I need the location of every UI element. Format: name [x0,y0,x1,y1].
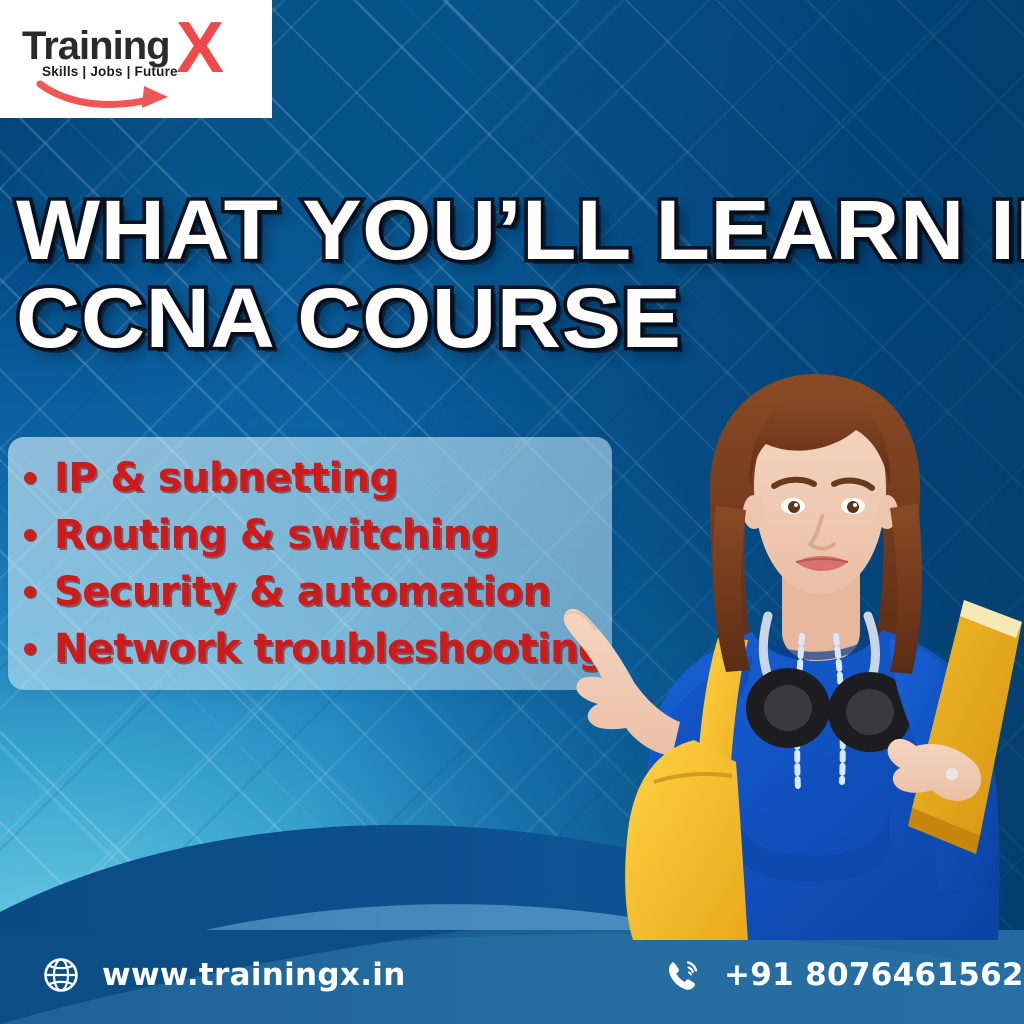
footer-phone[interactable]: +91 8076461562 [664,956,1024,994]
globe-icon [42,956,80,994]
poster-canvas: Training X Skills | Jobs | Future WHAT Y… [0,0,1024,1024]
phone-ring-icon [664,956,702,994]
student-photo [560,370,1024,950]
bullet-label: IP & subnetting [54,456,398,500]
bullet-dot-icon [24,586,36,598]
list-item: Network troubleshooting [8,620,612,677]
bullet-dot-icon [24,529,36,541]
footer-website[interactable]: www.trainingx.in [42,956,406,994]
headline-block: WHAT YOU’LL LEARN IN THE CCNA COURSE [16,186,1006,362]
logo-arrow-icon [36,78,176,112]
headline-line-1: WHAT YOU’LL LEARN IN THE [16,186,1024,274]
logo-wordmark: Training [22,26,170,66]
bullet-dot-icon [24,472,36,484]
brand-logo[interactable]: Training X Skills | Jobs | Future [0,0,272,118]
bullet-dot-icon [24,643,36,655]
list-item: Security & automation [8,563,612,620]
headline-line-2: CCNA COURSE [16,274,1024,362]
list-item: IP & subnetting [8,449,612,506]
website-label: www.trainingx.in [102,957,406,993]
bullet-label: Network troubleshooting [54,627,606,671]
bullet-label: Security & automation [54,570,550,614]
logo-tagline: Skills | Jobs | Future [42,64,178,79]
phone-label: +91 8076461562 [724,957,1024,993]
bullet-label: Routing & switching [54,513,499,557]
logo-x-mark: X [176,12,224,84]
footer-contact-bar: www.trainingx.in +91 8076461562 [0,930,1024,1024]
bullet-list-panel: IP & subnetting Routing & switching Secu… [8,437,612,690]
list-item: Routing & switching [8,506,612,563]
